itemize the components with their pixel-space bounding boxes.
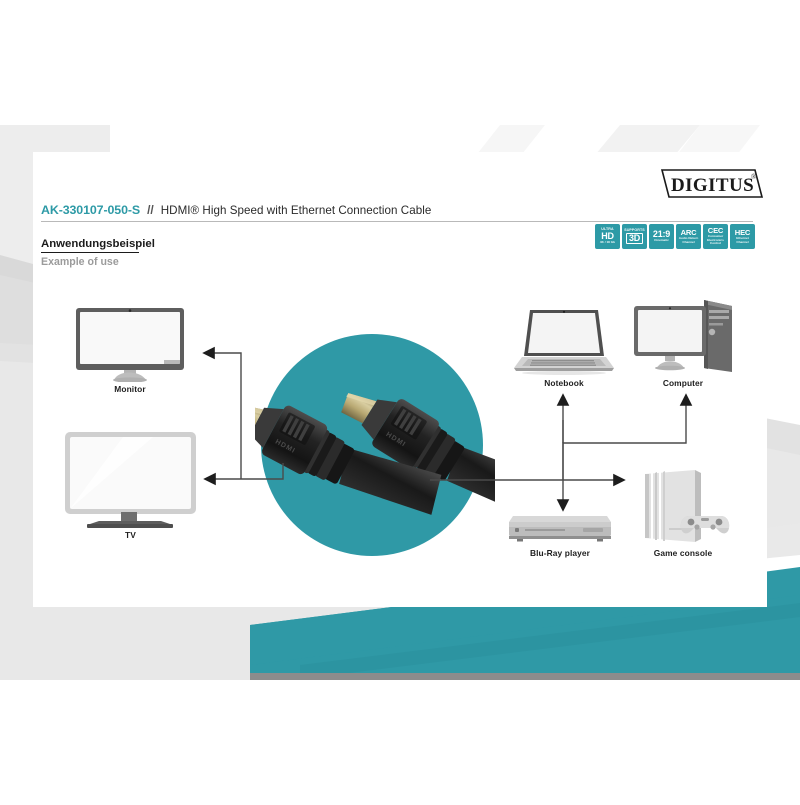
- badge-cec: CEC Consumer Electronics Control: [703, 224, 728, 249]
- title-separator: //: [147, 203, 154, 217]
- device-notebook: Notebook: [512, 306, 616, 390]
- device-tv: TV: [63, 430, 198, 542]
- digitus-logo: DIGITUS ®: [659, 164, 765, 202]
- svg-text:®: ®: [751, 173, 757, 181]
- badge-top-label: SUPPORTS: [624, 229, 645, 233]
- device-label-monitor: Monitor: [72, 384, 188, 394]
- device-label-bluray-player: Blu-Ray player: [507, 548, 613, 558]
- device-bluray-player: Blu-Ray player: [507, 510, 613, 560]
- badge-ultra-hd: ULTRA HD 4K / 18 Gb: [595, 224, 620, 249]
- badge-sub-label: 4K / 18 Gb: [600, 241, 615, 245]
- badge-sub-label: Audio Return Channel: [676, 237, 701, 244]
- badge-arc: ARC Audio Return Channel: [676, 224, 701, 249]
- device-computer: Computer: [630, 296, 736, 390]
- device-label-game-console: Game console: [633, 548, 733, 558]
- hdmi-cable-image: HDMI HDMI: [255, 330, 495, 562]
- device-label-tv: TV: [63, 530, 198, 540]
- badge-sub-label: Ethernet Channel: [730, 237, 755, 244]
- badge-3d: SUPPORTS 3D: [622, 224, 647, 249]
- svg-text:DIGITUS: DIGITUS: [671, 175, 754, 196]
- section-title-underline: [41, 252, 139, 253]
- device-game-console: Game console: [633, 466, 733, 560]
- device-monitor: Monitor: [72, 306, 188, 394]
- section-title-en: Example of use: [41, 256, 119, 268]
- title-divider: [41, 221, 753, 222]
- badge-21-9: 21:9 Cinematic: [649, 224, 674, 249]
- product-title-row: AK-330107-050-S // HDMI® High Speed with…: [41, 203, 753, 217]
- product-name: HDMI® High Speed with Ethernet Connectio…: [161, 204, 432, 217]
- product-sheet: DIGITUS ® AK-330107-050-S // HDMI® High …: [0, 0, 800, 800]
- device-label-notebook: Notebook: [512, 378, 616, 388]
- badge-main-label: 3D: [626, 233, 642, 244]
- badge-sub-label: Cinematic: [654, 239, 669, 243]
- badge-sub-label: Consumer Electronics Control: [703, 235, 728, 246]
- section-title-de: Anwendungsbeispiel: [41, 238, 155, 250]
- feature-badges: ULTRA HD 4K / 18 Gb SUPPORTS 3D 21:9 Cin…: [595, 224, 755, 249]
- product-sku: AK-330107-050-S: [41, 203, 140, 217]
- badge-top-label: ULTRA: [601, 228, 613, 232]
- badge-hec: HEC Ethernet Channel: [730, 224, 755, 249]
- device-label-computer: Computer: [630, 378, 736, 388]
